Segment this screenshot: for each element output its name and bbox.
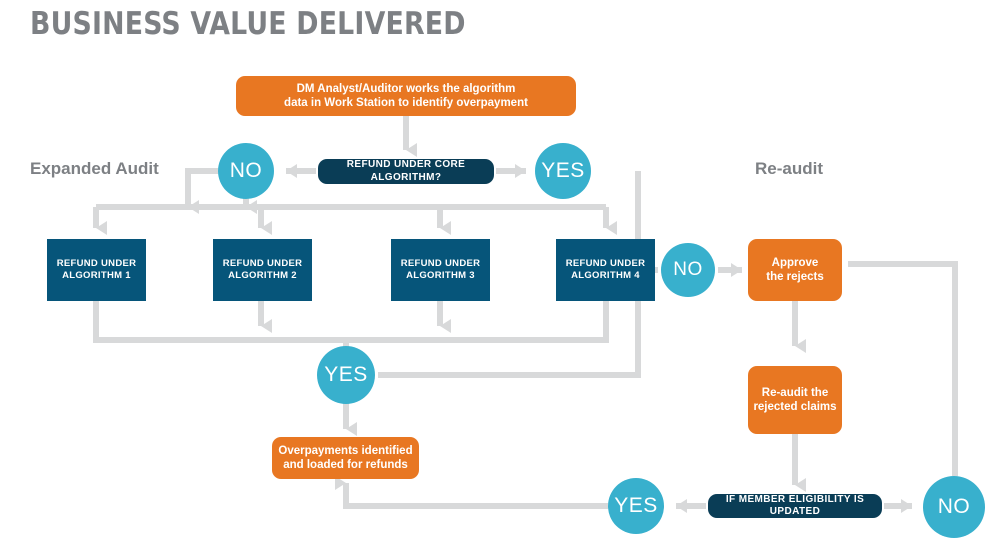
node-overpayments-identified[interactable]: Overpayments identified and loaded for r… — [272, 437, 419, 479]
node-decision-core-algorithm-label: REFUND UNDER CORE ALGORITHM? — [318, 159, 494, 184]
node-start[interactable]: DM Analyst/Auditor works the algorithm d… — [236, 76, 576, 116]
node-overpayments-identified-line2: and loaded for refunds — [278, 458, 412, 472]
node-reaudit-rejected-claims-line1: Re-audit the — [753, 386, 836, 400]
circle-eligibility-yes-label: YES — [614, 493, 658, 519]
node-refund-algorithm-4-line1: REFUND UNDER — [566, 258, 646, 270]
node-refund-algorithm-3[interactable]: REFUND UNDER ALGORITHM 3 — [391, 239, 490, 301]
circle-core-yes[interactable]: YES — [535, 143, 591, 199]
circle-core-no-label: NO — [230, 158, 263, 184]
node-refund-algorithm-4-line2: ALGORITHM 4 — [566, 270, 646, 282]
circle-collector-yes-label: YES — [324, 362, 368, 388]
node-refund-algorithm-3-line1: REFUND UNDER — [401, 258, 481, 270]
circle-core-yes-label: YES — [541, 158, 585, 184]
node-approve-rejects-line2: the rejects — [766, 270, 824, 284]
node-refund-algorithm-1-line2: ALGORITHM 1 — [57, 270, 137, 282]
node-refund-algorithm-1-line1: REFUND UNDER — [57, 258, 137, 270]
node-reaudit-rejected-claims-line2: rejected claims — [753, 400, 836, 414]
circle-eligibility-no-label: NO — [938, 494, 971, 520]
node-refund-algorithm-2-line2: ALGORITHM 2 — [223, 270, 303, 282]
node-overpayments-identified-line1: Overpayments identified — [278, 444, 412, 458]
circle-algorithm4-no-label: NO — [673, 258, 703, 282]
node-refund-algorithm-3-line2: ALGORITHM 3 — [401, 270, 481, 282]
circle-eligibility-yes[interactable]: YES — [608, 478, 664, 534]
node-reaudit-rejected-claims[interactable]: Re-audit the rejected claims — [748, 366, 842, 434]
node-decision-member-eligibility-label: IF MEMBER ELIGIBILITY IS UPDATED — [708, 494, 882, 519]
circle-eligibility-no[interactable]: NO — [923, 476, 985, 538]
node-refund-algorithm-2[interactable]: REFUND UNDER ALGORITHM 2 — [213, 239, 312, 301]
node-decision-core-algorithm[interactable]: REFUND UNDER CORE ALGORITHM? — [318, 159, 494, 184]
node-approve-rejects-line1: Approve — [766, 256, 824, 270]
node-decision-member-eligibility[interactable]: IF MEMBER ELIGIBILITY IS UPDATED — [708, 494, 882, 518]
node-start-line2: data in Work Station to identify overpay… — [284, 96, 528, 110]
node-refund-algorithm-4[interactable]: REFUND UNDER ALGORITHM 4 — [556, 239, 655, 301]
flowchart-canvas: BUSINESS VALUE DELIVERED Expanded Audit … — [0, 0, 1000, 549]
node-refund-algorithm-1[interactable]: REFUND UNDER ALGORITHM 1 — [47, 239, 146, 301]
circle-core-no[interactable]: NO — [218, 143, 274, 199]
node-start-line1: DM Analyst/Auditor works the algorithm — [284, 82, 528, 96]
circle-collector-yes[interactable]: YES — [317, 346, 375, 404]
node-refund-algorithm-2-line1: REFUND UNDER — [223, 258, 303, 270]
circle-algorithm4-no[interactable]: NO — [661, 243, 715, 297]
node-approve-rejects[interactable]: Approve the rejects — [748, 239, 842, 301]
